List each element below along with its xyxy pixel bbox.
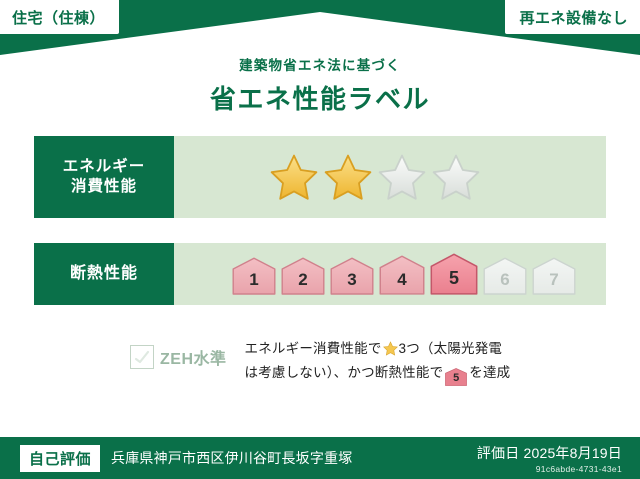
evaluation-id: 91c6abde-4731-43e1 xyxy=(477,464,622,474)
zeh-standard-indicator: ZEH水準 xyxy=(130,337,227,369)
insulation-level-value: 2 xyxy=(298,271,307,295)
insulation-header-line1: 断熱性能 xyxy=(70,264,138,284)
zeh-label: ZEH水準 xyxy=(160,345,227,369)
insulation-level-value: 1 xyxy=(249,271,258,295)
insulation-level-value: 3 xyxy=(347,271,356,295)
insulation-level-value: 6 xyxy=(500,271,509,295)
insulation-level-badge-4: 4 xyxy=(379,255,425,295)
energy-header-line2: 消費性能 xyxy=(71,177,137,197)
footer: 自己評価 兵庫県神戸市西区伊川谷町長坂字重塚 評価日 2025年8月19日 91… xyxy=(0,437,640,479)
property-address: 兵庫県神戸市西区伊川谷町長坂字重塚 xyxy=(111,448,352,468)
insulation-level-badge-1: 1 xyxy=(232,257,276,295)
inline-level-badge: 5 xyxy=(445,368,467,386)
note-line1-b: 3つ（太陽光発電 xyxy=(399,341,503,356)
energy-row-header: エネルギー 消費性能 xyxy=(34,136,174,218)
note-line2-a: は考慮しない）、かつ断熱性能で xyxy=(245,365,444,380)
title-subtitle: 建築物省エネ法に基づく xyxy=(0,54,640,74)
energy-performance-row: エネルギー 消費性能 xyxy=(34,136,606,218)
insulation-level-badge-7: 7 xyxy=(532,257,576,295)
insulation-level-badge-6: 6 xyxy=(483,257,527,295)
energy-header-line1: エネルギー xyxy=(63,157,146,177)
insulation-row-body: 1234567 xyxy=(174,243,606,305)
tag-renewable-energy: 再エネ設備なし xyxy=(505,0,640,34)
insulation-level-badges: 1234567 xyxy=(232,253,576,295)
self-evaluation-badge: 自己評価 xyxy=(20,445,100,472)
note-text: エネルギー消費性能で 3つ（太陽光発電 は考慮しない）、かつ断熱性能で 5を達成 xyxy=(245,337,511,386)
insulation-level-value: 4 xyxy=(397,271,406,295)
note-line-1: エネルギー消費性能で 3つ（太陽光発電 xyxy=(245,337,511,361)
title-main: 省エネ性能ラベル xyxy=(0,79,640,116)
inline-level-badge-value: 5 xyxy=(445,368,467,384)
energy-row-body xyxy=(174,136,606,218)
evaluation-date: 評価日 2025年8月19日 xyxy=(477,443,622,463)
insulation-performance-row: 断熱性能 1234567 xyxy=(34,243,606,305)
checkbox-unchecked-icon xyxy=(130,345,154,369)
insulation-row-header: 断熱性能 xyxy=(34,243,174,305)
star-rating xyxy=(269,153,481,201)
inline-star-icon xyxy=(383,340,398,355)
label-title: 建築物省エネ法に基づく 省エネ性能ラベル xyxy=(0,54,640,116)
insulation-level-badge-3: 3 xyxy=(330,257,374,295)
insulation-level-badge-5: 5 xyxy=(430,253,478,295)
note-area: ZEH水準 エネルギー消費性能で 3つ（太陽光発電 は考慮しない）、かつ断熱性能… xyxy=(130,337,510,386)
star-icon-filled xyxy=(323,153,373,201)
star-icon-empty xyxy=(431,153,481,201)
energy-performance-label: 住宅（住棟） 再エネ設備なし 建築物省エネ法に基づく 省エネ性能ラベル エネルギ… xyxy=(0,0,640,479)
tag-building-type: 住宅（住棟） xyxy=(0,0,119,34)
note-line1-a: エネルギー消費性能で xyxy=(245,341,382,356)
footer-right: 評価日 2025年8月19日 91c6abde-4731-43e1 xyxy=(477,443,622,474)
star-icon-empty xyxy=(377,153,427,201)
insulation-level-value: 7 xyxy=(549,271,558,295)
insulation-level-value: 5 xyxy=(449,269,459,295)
insulation-level-badge-2: 2 xyxy=(281,257,325,295)
note-line-2: は考慮しない）、かつ断熱性能で 5を達成 xyxy=(245,361,511,386)
note-line2-b: を達成 xyxy=(469,365,510,380)
star-icon-filled xyxy=(269,153,319,201)
